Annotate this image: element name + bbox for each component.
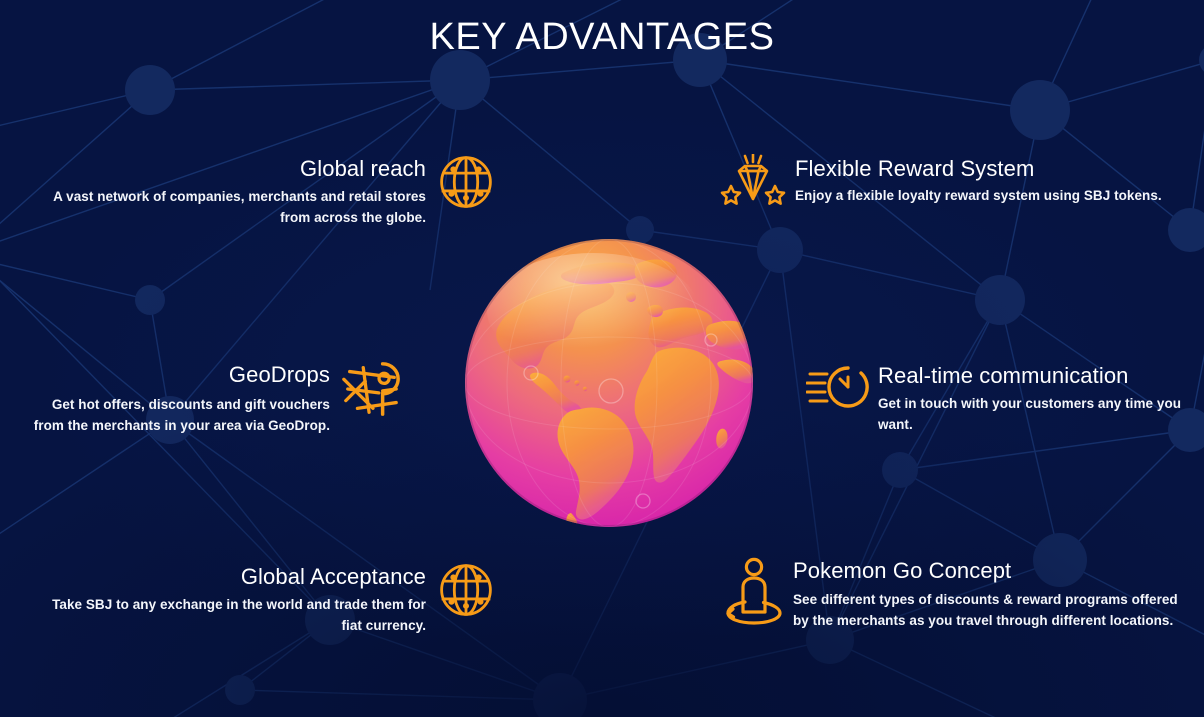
feature-description: A vast network of companies, merchants a… bbox=[42, 186, 426, 228]
feature-description: Enjoy a flexible loyalty reward system u… bbox=[795, 185, 1189, 206]
feature-title: Real-time communication bbox=[878, 363, 1198, 389]
feature-text-block: Pokemon Go Concept See different types o… bbox=[793, 558, 1193, 631]
feature-realtime-communication[interactable]: Real-time communication Get in touch wit… bbox=[806, 363, 1198, 435]
diamond-stars-icon bbox=[719, 154, 787, 216]
feature-description: Get hot offers, discounts and gift vouch… bbox=[24, 394, 330, 436]
fast-clock-icon bbox=[806, 361, 870, 413]
feature-geodrops[interactable]: GeoDrops Get hot offers, discounts and g… bbox=[24, 362, 410, 436]
feature-text-block: Flexible Reward System Enjoy a flexible … bbox=[795, 156, 1189, 206]
map-pin-icon bbox=[340, 358, 400, 418]
feature-text-block: Real-time communication Get in touch wit… bbox=[878, 363, 1198, 435]
feature-global-acceptance[interactable]: Global Acceptance Take SBJ to any exchan… bbox=[42, 564, 506, 636]
feature-description: Get in touch with your customers any tim… bbox=[878, 393, 1198, 435]
feature-title: Flexible Reward System bbox=[795, 156, 1189, 182]
feature-text-block: Global Acceptance Take SBJ to any exchan… bbox=[42, 564, 426, 636]
feature-title: Global Acceptance bbox=[42, 564, 426, 590]
feature-text-block: GeoDrops Get hot offers, discounts and g… bbox=[24, 362, 330, 436]
person-orbit-icon bbox=[723, 556, 785, 628]
world-globe-graphic bbox=[463, 233, 755, 533]
globe-network-icon bbox=[436, 560, 496, 620]
feature-title: Pokemon Go Concept bbox=[793, 558, 1193, 584]
feature-pokemon-go-concept[interactable]: Pokemon Go Concept See different types o… bbox=[723, 558, 1193, 631]
globe-network-icon bbox=[436, 152, 496, 212]
feature-title: Global reach bbox=[42, 156, 426, 182]
feature-text-block: Global reach A vast network of companies… bbox=[42, 156, 426, 228]
key-advantages-section: KEY ADVANTAGES bbox=[0, 0, 1204, 717]
feature-flexible-reward[interactable]: Flexible Reward System Enjoy a flexible … bbox=[719, 156, 1189, 216]
feature-description: Take SBJ to any exchange in the world an… bbox=[42, 594, 426, 636]
feature-global-reach[interactable]: Global reach A vast network of companies… bbox=[42, 156, 506, 228]
feature-description: See different types of discounts & rewar… bbox=[793, 589, 1193, 631]
feature-title: GeoDrops bbox=[24, 362, 330, 388]
page-title: KEY ADVANTAGES bbox=[0, 14, 1204, 60]
